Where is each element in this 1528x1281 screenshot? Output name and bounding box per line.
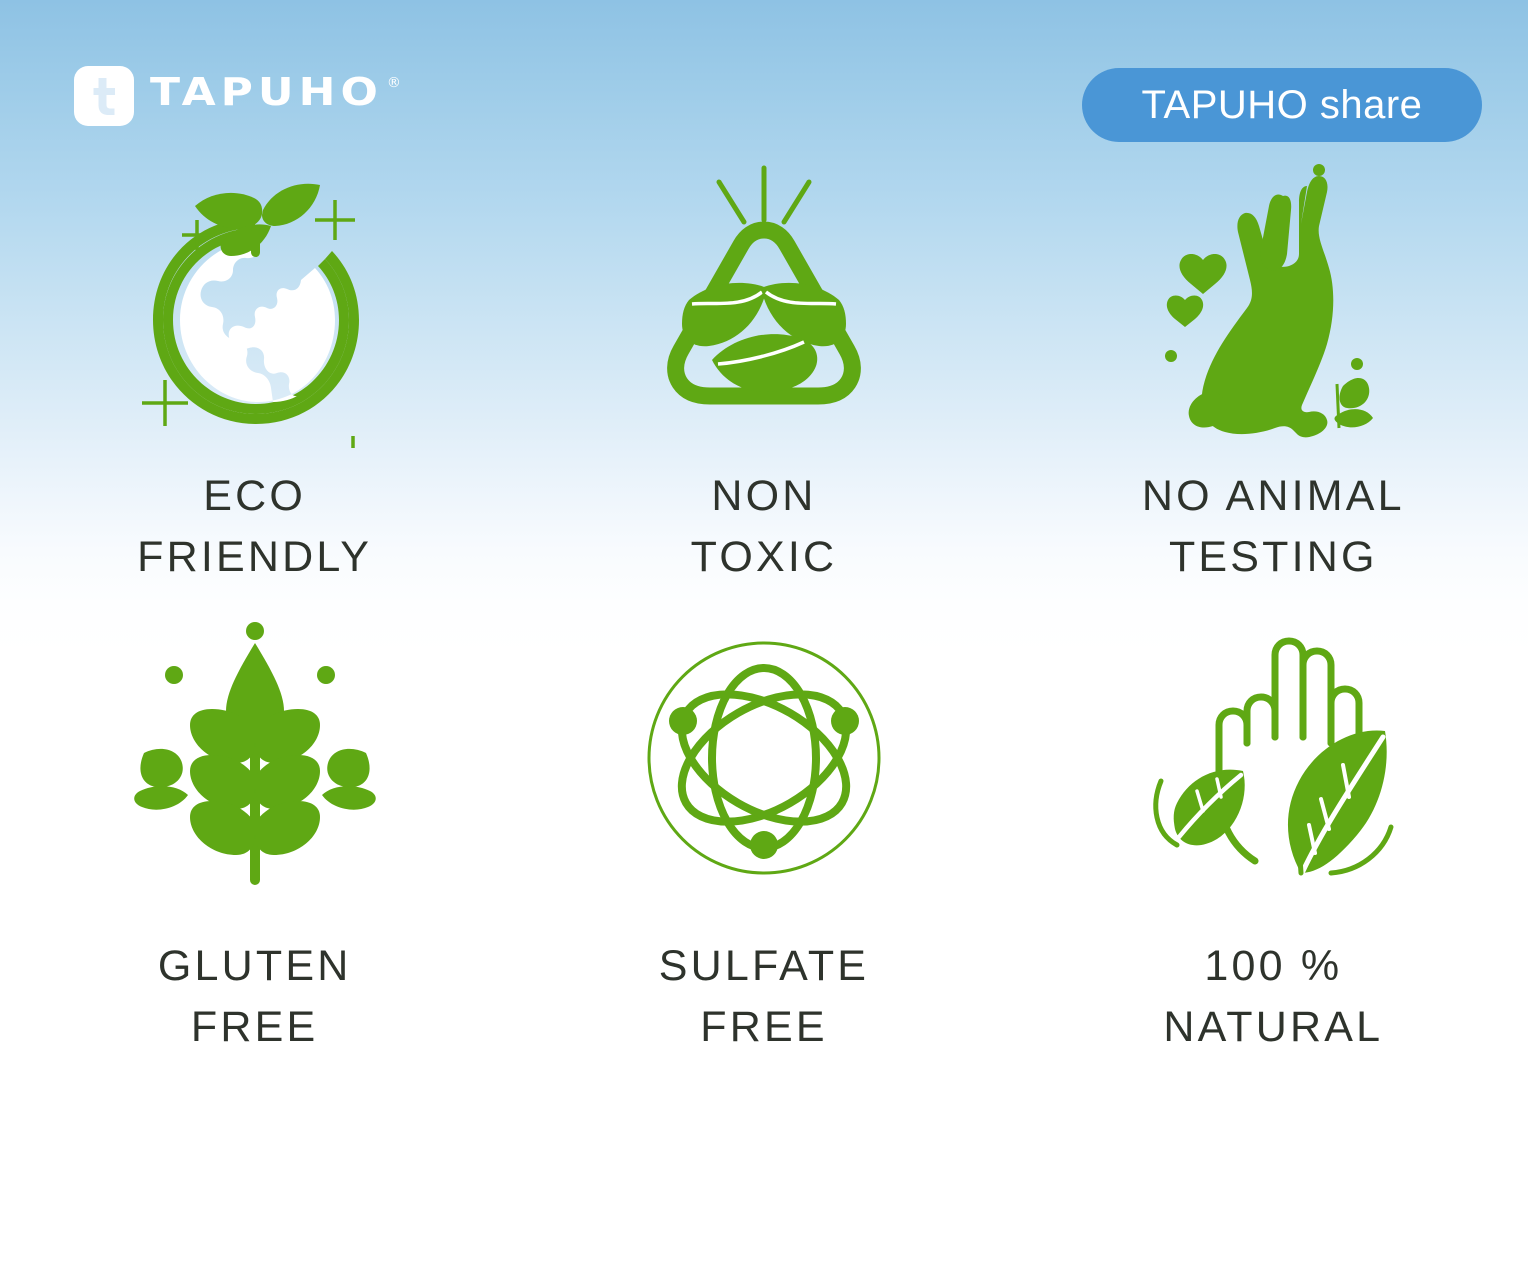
globe-with-leaves-icon [125, 148, 385, 448]
claim-label: ECO FRIENDLY [137, 466, 372, 588]
product-claims-infographic: TAPUHO ® TAPUHO share [0, 0, 1528, 1281]
claim-no-animal-testing: NO ANIMAL TESTING [1019, 148, 1528, 608]
brand-logo: TAPUHO ® [74, 66, 401, 126]
claim-label: NO ANIMAL TESTING [1142, 466, 1405, 588]
hand-with-leaves-icon [1143, 608, 1403, 908]
atom-molecule-icon [639, 608, 889, 908]
wheat-stalk-icon [130, 608, 380, 908]
brand-wordmark-text: TAPUHO [150, 74, 383, 112]
brand-wordmark: TAPUHO ® [150, 74, 401, 118]
claim-gluten-free: GLUTEN FREE [0, 608, 509, 1168]
claim-label: 100 % NATURAL [1163, 936, 1383, 1058]
claim-non-toxic: NON TOXIC [509, 148, 1018, 608]
tapuho-t-logomark [74, 66, 134, 126]
rabbit-with-hearts-icon [1143, 148, 1403, 448]
claim-label: NON TOXIC [691, 466, 838, 588]
claim-label: GLUTEN FREE [158, 936, 352, 1058]
claim-sulfate-free: SULFATE FREE [509, 608, 1018, 1168]
claim-label: SULFATE FREE [659, 936, 869, 1058]
registered-trademark-icon: ® [387, 76, 401, 90]
claims-grid: ECO FRIENDLY [0, 148, 1528, 1168]
claim-100-natural: 100 % NATURAL [1019, 608, 1528, 1168]
recycle-triangle-leaves-icon [634, 148, 894, 448]
claim-eco-friendly: ECO FRIENDLY [0, 148, 509, 608]
tapuho-share-button[interactable]: TAPUHO share [1082, 68, 1482, 142]
